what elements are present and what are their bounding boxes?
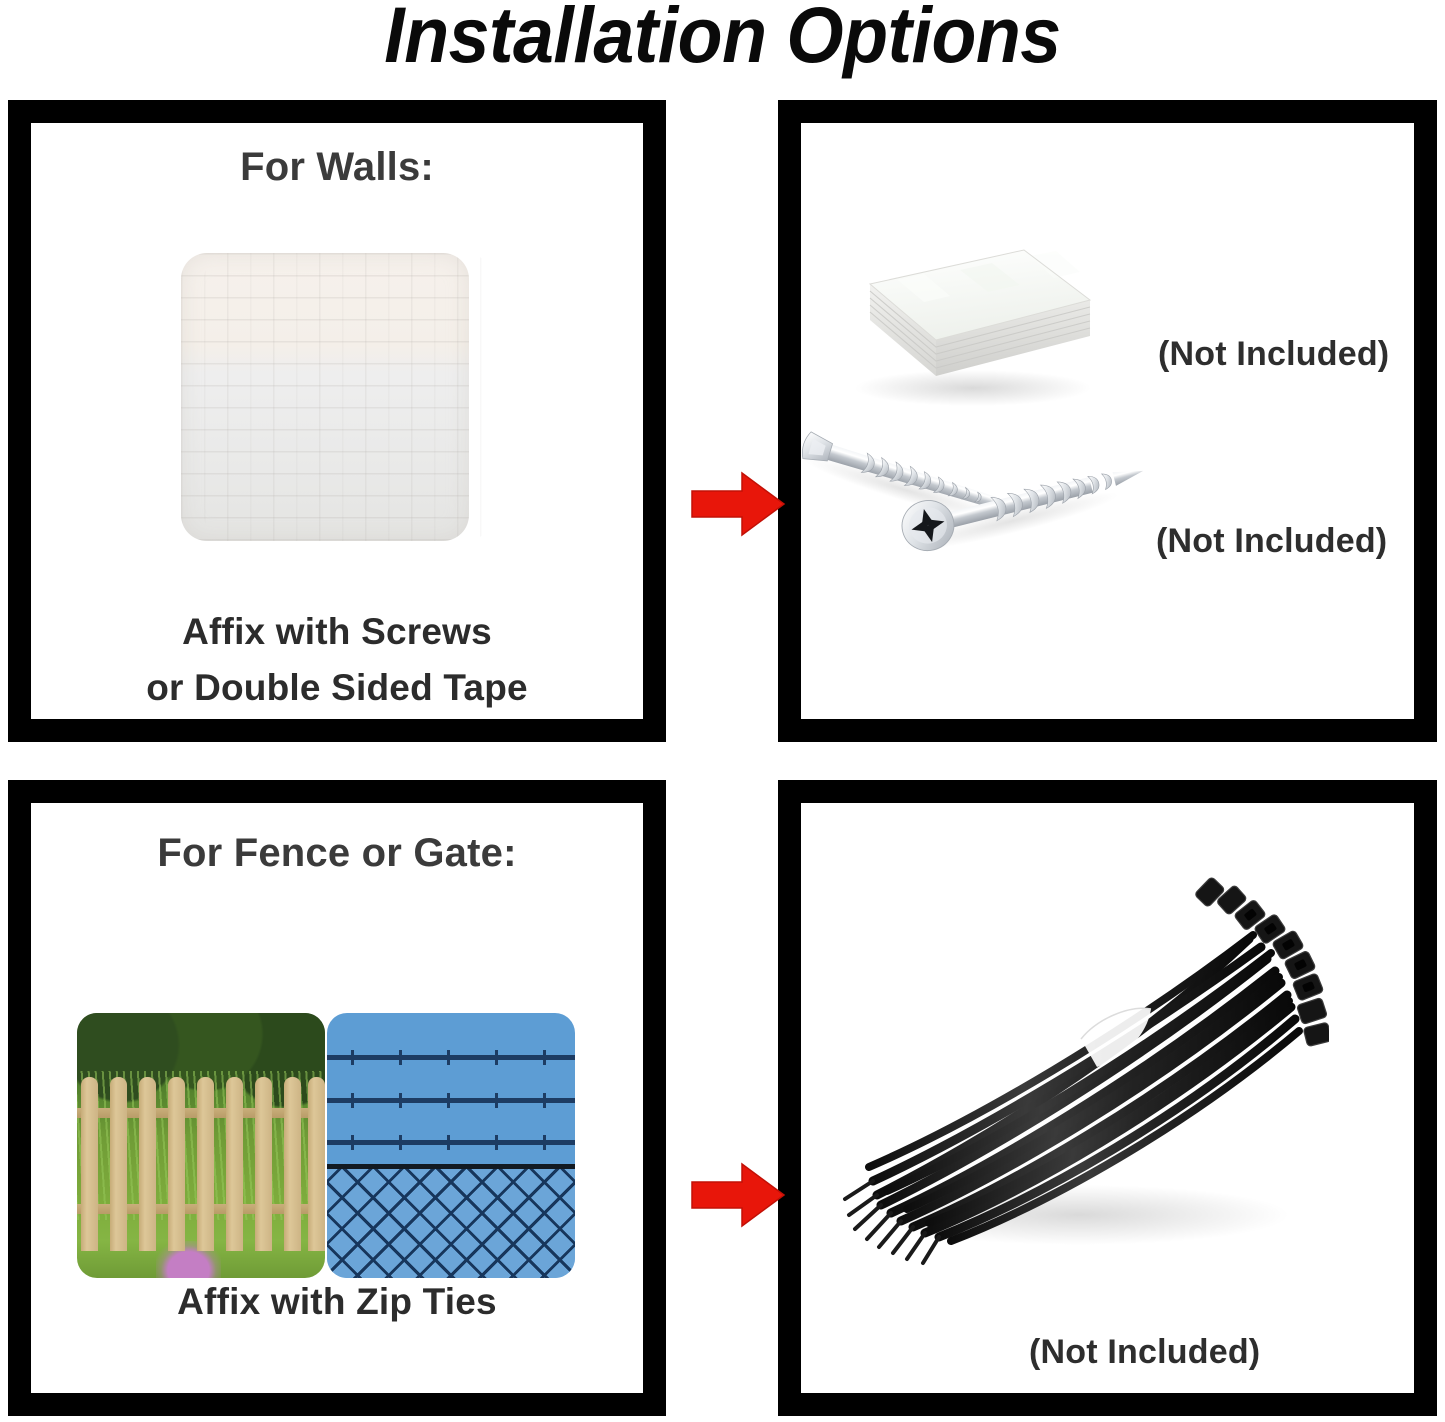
fence-picket <box>110 1077 127 1252</box>
barbed-wire-strand <box>327 1140 575 1145</box>
panel-for-fence-or-gate-content: For Fence or Gate: <box>31 803 643 1393</box>
chain-link-mesh <box>327 1169 575 1278</box>
fence-picket <box>226 1077 243 1252</box>
panel-wall-hardware: (Not Included) <box>778 100 1437 742</box>
fence-picket <box>81 1077 98 1252</box>
phillips-wood-screws <box>801 413 1151 603</box>
caption-affix-with-screws: Affix with Screws <box>31 611 643 653</box>
red-right-arrow <box>690 1162 786 1228</box>
note-screws-not-included: (Not Included) <box>1156 522 1387 561</box>
panel-heading-for-walls: For Walls: <box>31 145 643 190</box>
installation-options-grid: For Walls: Affix with Screws or Double S… <box>8 100 1437 1416</box>
double-sided-tape-stack <box>828 228 1108 408</box>
black-zip-ties-bundle <box>829 843 1329 1273</box>
page-title: Installation Options <box>51 0 1395 77</box>
note-tape-not-included: (Not Included) <box>1158 335 1389 374</box>
fence-picket <box>197 1077 214 1252</box>
red-right-arrow <box>690 471 786 537</box>
fence-picket <box>139 1077 156 1252</box>
barbed-wire-strand <box>327 1055 575 1060</box>
fence-picket <box>284 1077 301 1252</box>
panel-zip-ties: (Not Included) <box>778 780 1437 1416</box>
fence-picket <box>255 1077 272 1252</box>
caption-or-double-sided-tape: or Double Sided Tape <box>31 667 643 709</box>
fence-pickets <box>77 1013 325 1278</box>
panel-for-walls-content: For Walls: Affix with Screws or Double S… <box>31 123 643 719</box>
note-zip-ties-not-included: (Not Included) <box>1029 1333 1260 1372</box>
panel-zip-ties-content: (Not Included) <box>801 803 1414 1393</box>
barbed-wire-strand <box>327 1098 575 1103</box>
fence-picket <box>168 1077 185 1252</box>
panel-wall-hardware-content: (Not Included) <box>801 123 1414 719</box>
chain-link-barbed-wire-fence-photo <box>327 1013 575 1278</box>
white-brick-wall-swatch <box>181 253 469 541</box>
panel-for-fence-or-gate: For Fence or Gate: <box>8 780 666 1416</box>
caption-affix-with-zip-ties: Affix with Zip Ties <box>31 1281 643 1323</box>
panel-heading-for-fence-or-gate: For Fence or Gate: <box>31 831 643 876</box>
wooden-picket-fence-photo <box>77 1013 325 1278</box>
panel-for-walls: For Walls: Affix with Screws or Double S… <box>8 100 666 742</box>
fence-picket <box>308 1077 325 1252</box>
